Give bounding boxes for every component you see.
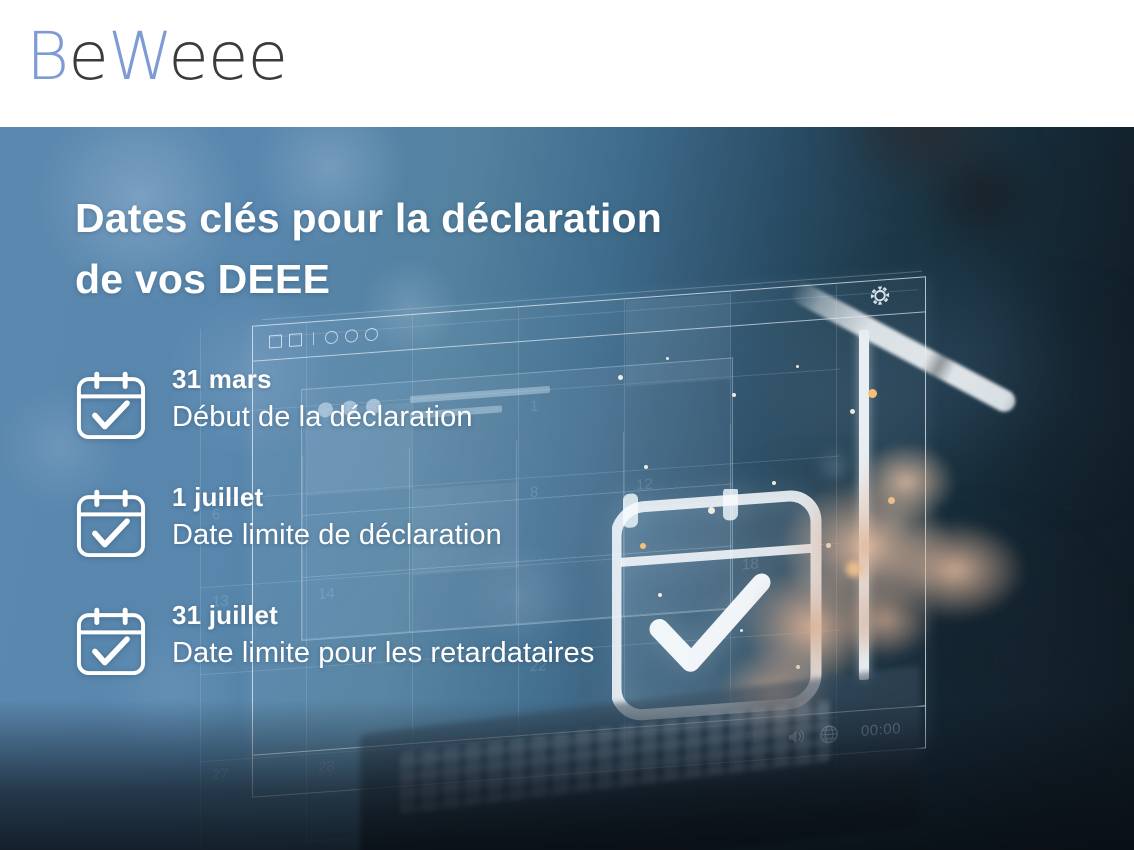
key-date-description: Date limite pour les retardataires — [172, 635, 594, 672]
key-date-label: 31 mars — [172, 364, 473, 396]
poster-canvas: 1 6 8 12 13 14 18 22 27 28 29 31 — [0, 0, 1134, 850]
key-date-description: Date limite de déclaration — [172, 517, 502, 554]
key-date-label: 31 juillet — [172, 600, 594, 632]
page-title: Dates clés pour la déclaration de vos DE… — [75, 188, 835, 309]
brand-logo[interactable]: BeWeee — [26, 24, 287, 90]
list-item-text: 31 juillet Date limite pour les retardat… — [172, 598, 594, 672]
list-item: 31 mars Début de la déclaration — [74, 362, 774, 442]
logo-part-e: e — [68, 18, 108, 95]
page-title-line-1: Dates clés pour la déclaration — [75, 188, 835, 249]
list-item-text: 1 juillet Date limite de déclaration — [172, 480, 502, 554]
calendar-check-icon — [74, 486, 148, 560]
list-item-text: 31 mars Début de la déclaration — [172, 362, 473, 436]
calendar-check-icon — [74, 604, 148, 678]
key-dates-list: 31 mars Début de la déclaration 1 juille… — [74, 362, 774, 716]
logo-part-b: B — [26, 18, 68, 95]
list-item: 1 juillet Date limite de déclaration — [74, 480, 774, 560]
page-title-line-2: de vos DEEE — [75, 249, 835, 310]
header-band: BeWeee — [0, 0, 1134, 127]
logo-part-w: W — [108, 18, 168, 95]
key-date-label: 1 juillet — [172, 482, 502, 514]
key-date-description: Début de la déclaration — [172, 399, 473, 436]
hero-photo: 1 6 8 12 13 14 18 22 27 28 29 31 — [0, 127, 1134, 850]
calendar-check-icon — [74, 368, 148, 442]
list-item: 31 juillet Date limite pour les retardat… — [74, 598, 774, 678]
logo-part-eee: eee — [168, 18, 287, 95]
hero-content: Dates clés pour la déclaration de vos DE… — [0, 127, 1134, 850]
